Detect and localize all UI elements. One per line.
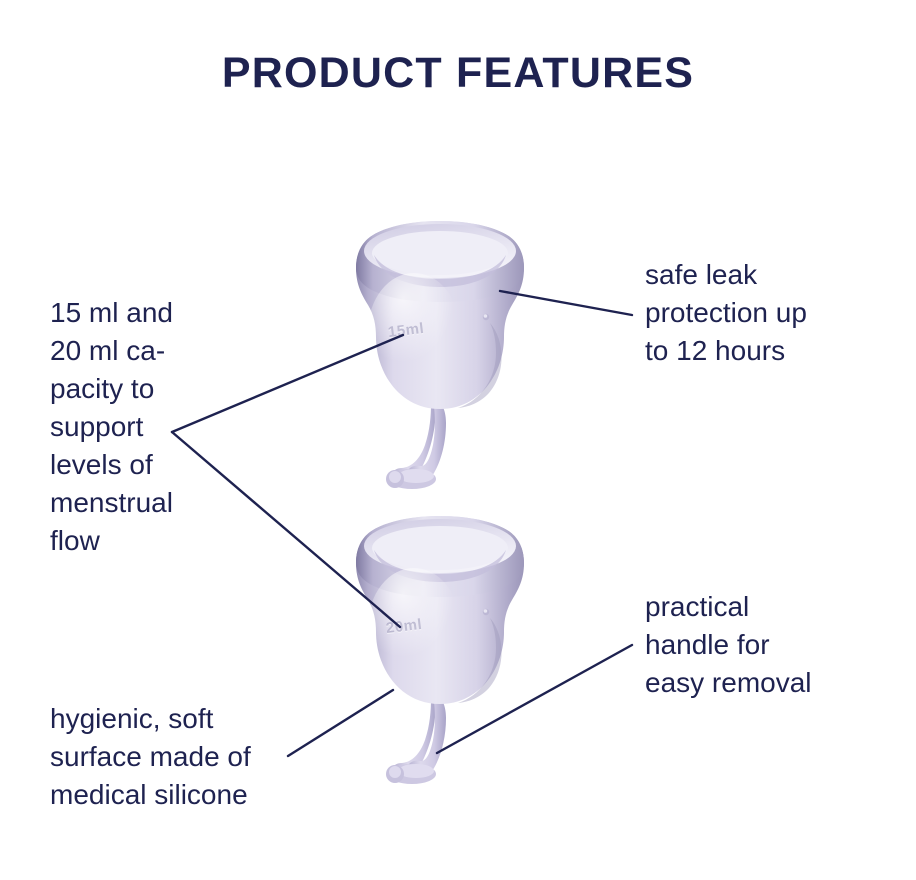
callout-capacity: 15 ml and 20 ml ca- pacity to support le… bbox=[50, 294, 230, 561]
menstrual-cup-20ml-image bbox=[340, 508, 540, 798]
menstrual-cup-15ml-image bbox=[340, 213, 540, 503]
cup-opening-inner bbox=[372, 231, 508, 275]
callout-handle: practical handle for easy removal bbox=[645, 588, 885, 702]
cup-air-hole-highlight bbox=[484, 609, 488, 613]
cup-handle-loop-left-inner bbox=[389, 766, 401, 778]
callout-hygienic: hygienic, soft surface made of medical s… bbox=[50, 700, 325, 814]
callout-leak-protection: safe leak protection up to 12 hours bbox=[645, 256, 885, 370]
page-title: PRODUCT FEATURES bbox=[0, 52, 916, 95]
product-features-infographic: PRODUCT FEATURES bbox=[0, 0, 916, 880]
cup-opening-inner bbox=[372, 526, 508, 570]
cup-gloss-highlight bbox=[368, 273, 460, 389]
cup-air-hole-highlight bbox=[484, 314, 488, 318]
cup-handle-loop-left-inner bbox=[389, 471, 401, 483]
cup-gloss-highlight bbox=[368, 568, 460, 684]
